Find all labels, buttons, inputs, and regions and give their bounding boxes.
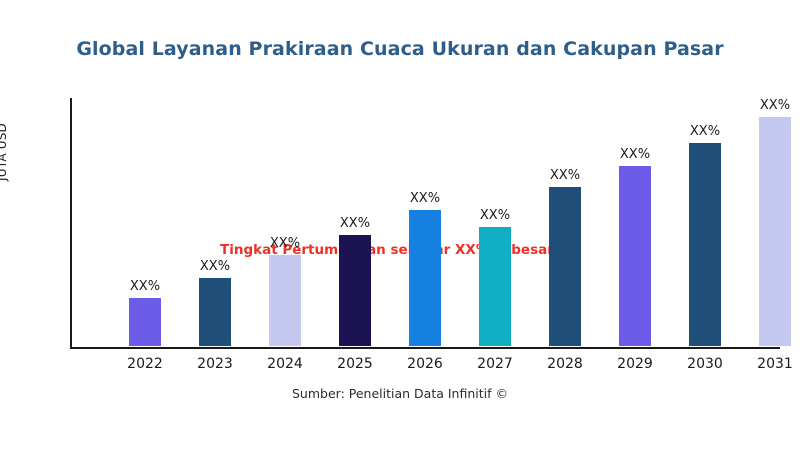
bar-value-label: XX% [670,124,740,139]
bar-group: XX% [670,96,740,346]
x-axis-line [70,347,780,349]
x-tick-label: 2023 [180,356,250,372]
y-axis-title: JUTA USD [0,92,9,212]
chart-title: Global Layanan Prakiraan Cuaca Ukuran da… [0,38,800,60]
bar-value-label: XX% [530,168,600,183]
bar-value-label: XX% [460,208,530,223]
bar[interactable] [269,255,301,346]
bar-group: XX% [740,96,800,346]
bar-group: XX% [460,96,530,346]
bar-group: XX% [530,96,600,346]
plot-area: Tingkat Pertumbuhan sebesar XX% sebesar … [70,98,780,348]
bar[interactable] [479,227,511,346]
x-tick-label: 2024 [250,356,320,372]
bar-value-label: XX% [740,98,800,113]
bar[interactable] [129,298,161,346]
bar-group: XX% [390,96,460,346]
bar-chart: Global Layanan Prakiraan Cuaca Ukuran da… [0,0,800,450]
bar-value-label: XX% [600,147,670,162]
y-axis-line [70,98,72,348]
x-tick-label: 2031 [740,356,800,372]
bar-value-label: XX% [250,236,320,251]
x-tick-label: 2025 [320,356,390,372]
bar[interactable] [549,187,581,346]
bar-value-label: XX% [390,191,460,206]
bar-value-label: XX% [110,279,180,294]
bar[interactable] [759,117,791,346]
bar-group: XX% [320,96,390,346]
x-tick-label: 2027 [460,356,530,372]
bar[interactable] [199,278,231,346]
bar[interactable] [619,166,651,346]
bar[interactable] [689,143,721,346]
x-tick-label: 2030 [670,356,740,372]
source-note: Sumber: Penelitian Data Infinitif © [0,386,800,401]
bar-group: XX% [180,96,250,346]
bar[interactable] [339,235,371,346]
x-tick-label: 2026 [390,356,460,372]
bar-group: XX% [600,96,670,346]
bar-group: XX% [110,96,180,346]
x-tick-label: 2022 [110,356,180,372]
x-tick-label: 2028 [530,356,600,372]
bar-value-label: XX% [180,259,250,274]
bar-group: XX% [250,96,320,346]
bar[interactable] [409,210,441,346]
bar-value-label: XX% [320,216,390,231]
x-tick-label: 2029 [600,356,670,372]
